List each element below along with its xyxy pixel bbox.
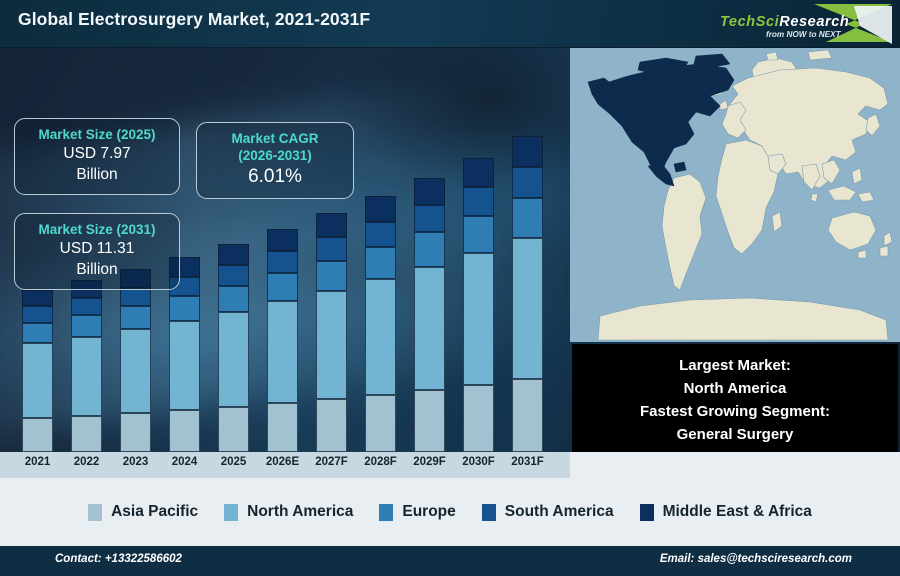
legend-swatch-icon-north-america <box>224 504 238 521</box>
bar-2026E <box>267 229 298 452</box>
bar-2025 <box>218 244 249 452</box>
bar-segment-north-america <box>316 291 347 400</box>
map-landmass <box>766 52 778 60</box>
map-highlighted-region-north-america <box>592 64 734 176</box>
footer-email: Email: sales@techsciresearch.com <box>660 553 852 565</box>
bar-2030F <box>463 158 494 452</box>
legend-swatch-icon-south-america <box>482 504 496 521</box>
map-highlighted-region-north-america <box>648 164 674 186</box>
bar-segment-north-america <box>120 329 151 413</box>
info-line-fastest-segment-value: General Surgery <box>677 424 794 446</box>
callout-label: Market Size (2025) <box>25 126 169 143</box>
bar-segment-north-america <box>365 279 396 395</box>
callout-market-size-2031: Market Size (2031) USD 11.31 Billion <box>14 213 180 290</box>
bar-segment-north-america <box>512 238 543 380</box>
page-title: Global Electrosurgery Market, 2021-2031F <box>18 9 370 30</box>
x-axis: 202120222023202420252026E2027F2028F2029F… <box>0 452 570 478</box>
bar-segment-south-america <box>22 306 53 322</box>
x-axis-tick-2024: 2024 <box>160 456 209 468</box>
legend-item-europe[interactable]: Europe <box>379 503 455 521</box>
bar-segment-middle-east-africa <box>414 178 445 205</box>
bar-segment-asia-pacific <box>316 399 347 452</box>
legend-item-north-america[interactable]: North America <box>224 503 353 521</box>
map-landmass <box>858 192 874 202</box>
callout-value-line2: Billion <box>25 259 169 280</box>
bar-segment-europe <box>512 198 543 237</box>
legend-label-europe: Europe <box>402 503 455 521</box>
bar-segment-south-america <box>512 167 543 198</box>
bar-segment-asia-pacific <box>365 395 396 452</box>
map-landmass <box>811 194 818 202</box>
bar-segment-middle-east-africa <box>512 136 543 167</box>
legend-swatch-icon-europe <box>379 504 393 521</box>
bar-segment-middle-east-africa <box>267 229 298 251</box>
bar-segment-europe <box>218 286 249 312</box>
x-axis-tick-2026E: 2026E <box>258 456 307 468</box>
bar-2023 <box>120 269 151 452</box>
bar-segment-europe <box>267 273 298 301</box>
bar-segment-europe <box>316 261 347 291</box>
header-bar: Global Electrosurgery Market, 2021-2031F… <box>0 0 900 48</box>
bar-segment-north-america <box>22 343 53 418</box>
chart-legend: Asia PacificNorth AmericaEuropeSouth Ame… <box>0 478 900 546</box>
callout-value-line1: USD 7.97 <box>25 143 169 164</box>
bar-segment-asia-pacific <box>71 416 102 452</box>
legend-item-south-america[interactable]: South America <box>482 503 614 521</box>
bar-segment-south-america <box>365 222 396 247</box>
bar-segment-south-america <box>463 187 494 216</box>
bar-segment-north-america <box>218 312 249 407</box>
x-axis-tick-2025: 2025 <box>209 456 258 468</box>
info-line-fastest-segment-label: Fastest Growing Segment: <box>640 401 830 423</box>
legend-swatch-icon-middle-east-africa <box>640 504 654 521</box>
bar-segment-middle-east-africa <box>316 213 347 237</box>
x-axis-tick-2022: 2022 <box>62 456 111 468</box>
bar-segment-asia-pacific <box>267 403 298 452</box>
bar-2027F <box>316 213 347 452</box>
bar-segment-south-america <box>267 251 298 273</box>
x-axis-tick-2031F: 2031F <box>503 456 552 468</box>
callout-market-size-2025: Market Size (2025) USD 7.97 Billion <box>14 118 180 195</box>
bar-segment-asia-pacific <box>22 418 53 452</box>
legend-label-middle-east-africa: Middle East & Africa <box>663 503 812 521</box>
bar-segment-middle-east-africa <box>463 158 494 187</box>
bar-segment-south-america <box>414 205 445 232</box>
bar-segment-north-america <box>71 337 102 416</box>
bar-2029F <box>414 178 445 452</box>
bar-segment-europe <box>463 216 494 253</box>
legend-item-asia-pacific[interactable]: Asia Pacific <box>88 503 198 521</box>
legend-item-middle-east-africa[interactable]: Middle East & Africa <box>640 503 812 521</box>
callout-value-line1: USD 11.31 <box>25 238 169 259</box>
map-landmass <box>662 174 706 290</box>
bar-segment-middle-east-africa <box>22 290 53 306</box>
techsci-research-logo: TechSciResearch from NOW to NEXT <box>714 2 894 46</box>
legend-swatch-icon-asia-pacific <box>88 504 102 521</box>
x-axis-filler <box>570 452 900 478</box>
map-landmass <box>598 298 888 340</box>
logo-name-part2: Research <box>779 14 849 30</box>
bar-segment-south-america <box>218 265 249 286</box>
bar-segment-europe <box>22 323 53 343</box>
bar-segment-europe <box>414 232 445 266</box>
legend-label-asia-pacific: Asia Pacific <box>111 503 198 521</box>
map-landmass <box>828 212 876 250</box>
map-landmass <box>858 250 866 258</box>
world-map-svg <box>570 48 900 342</box>
map-landmass <box>772 212 782 232</box>
bar-segment-south-america <box>316 237 347 261</box>
key-findings-box: Largest Market: North America Fastest Gr… <box>572 344 898 457</box>
bar-segment-south-america <box>120 288 151 306</box>
callout-label-line2: (2026-2031) <box>207 147 343 164</box>
map-landmass <box>828 186 856 200</box>
legend-label-north-america: North America <box>247 503 353 521</box>
bar-2028F <box>365 196 396 452</box>
x-axis-tick-2027F: 2027F <box>307 456 356 468</box>
bar-segment-europe <box>120 306 151 329</box>
logo-name-part1: TechSci <box>720 14 779 30</box>
map-landmass <box>866 114 880 136</box>
map-highlighted-region-north-america <box>674 162 686 172</box>
callout-label: Market Size (2031) <box>25 221 169 238</box>
bar-segment-middle-east-africa <box>365 196 396 221</box>
logo-wordmark: TechSciResearch <box>720 14 849 30</box>
map-landmass <box>852 168 862 184</box>
x-axis-tick-2028F: 2028F <box>356 456 405 468</box>
footer-contact: Contact: +13322586602 <box>55 553 182 565</box>
footer-bar: Contact: +13322586602 Email: sales@techs… <box>0 546 900 576</box>
info-line-largest-market-value: North America <box>684 378 787 400</box>
callout-value: 6.01% <box>207 164 343 189</box>
map-landmass <box>884 232 892 246</box>
bar-2022 <box>71 280 102 452</box>
map-landmass <box>808 50 832 60</box>
x-axis-tick-2021: 2021 <box>13 456 62 468</box>
x-axis-tick-2023: 2023 <box>111 456 160 468</box>
bar-segment-asia-pacific <box>463 385 494 452</box>
bar-segment-north-america <box>463 253 494 385</box>
bar-segment-north-america <box>414 267 445 391</box>
bar-segment-asia-pacific <box>414 390 445 452</box>
bar-2031F <box>512 136 543 452</box>
map-highlighted-region-north-america <box>638 58 688 74</box>
legend-label-south-america: South America <box>505 503 614 521</box>
logo-tagline: from NOW to NEXT <box>766 30 841 39</box>
x-axis-tick-2030F: 2030F <box>454 456 503 468</box>
bar-segment-asia-pacific <box>169 410 200 452</box>
x-axis-tick-2029F: 2029F <box>405 456 454 468</box>
bar-2021 <box>22 290 53 452</box>
bar-segment-middle-east-africa <box>218 244 249 265</box>
callout-label-line1: Market CAGR <box>207 130 343 147</box>
bar-segment-asia-pacific <box>120 413 151 452</box>
bar-segment-asia-pacific <box>512 379 543 452</box>
callout-value-line2: Billion <box>25 164 169 185</box>
bar-segment-europe <box>169 296 200 321</box>
bar-segment-europe <box>365 247 396 279</box>
bar-segment-north-america <box>267 301 298 403</box>
bar-segment-north-america <box>169 321 200 410</box>
callout-market-cagr: Market CAGR (2026-2031) 6.01% <box>196 122 354 199</box>
bar-segment-south-america <box>71 298 102 315</box>
info-line-largest-market-label: Largest Market: <box>679 355 791 377</box>
world-map <box>570 48 900 342</box>
map-landmass <box>720 100 728 110</box>
infographic-page: Global Electrosurgery Market, 2021-2031F… <box>0 0 900 576</box>
bar-segment-asia-pacific <box>218 407 249 452</box>
map-landmass <box>880 246 888 256</box>
bar-segment-europe <box>71 315 102 337</box>
